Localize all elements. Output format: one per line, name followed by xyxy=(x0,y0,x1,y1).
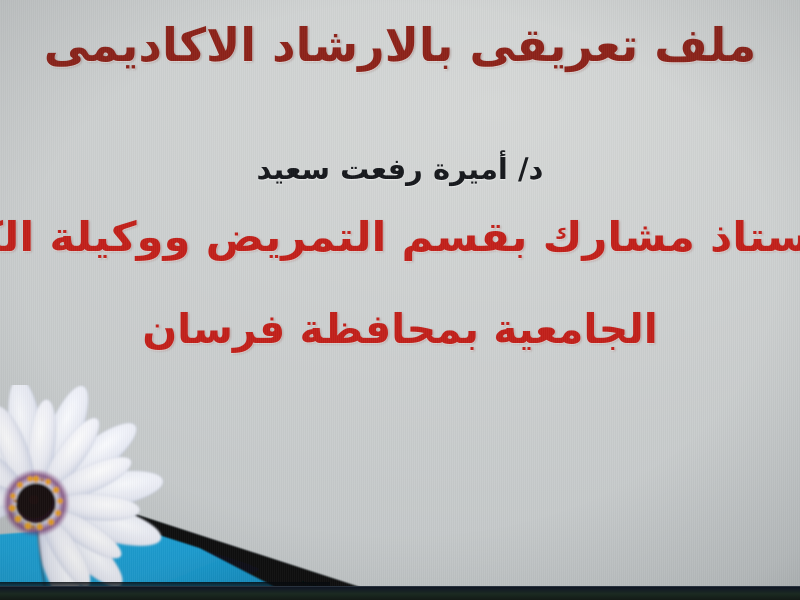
slide-text-block: ملف تعريقى بالارشاد الاكاديمى د/ أميرة ر… xyxy=(0,0,800,600)
monitor-bottom-bezel xyxy=(0,586,800,600)
presenter-name: د/ أميرة رفعت سعيد xyxy=(0,152,800,187)
affiliation-line-2: الجامعية بمحافظة فرسان xyxy=(0,305,800,354)
projected-slide-photo: ملف تعريقى بالارشاد الاكاديمى د/ أميرة ر… xyxy=(0,0,800,600)
page-title: ملف تعريقى بالارشاد الاكاديمى xyxy=(0,18,800,72)
affiliation-line-1: أستاذ مشارك بقسم التمريض ووكيلة الكلية xyxy=(0,213,800,262)
